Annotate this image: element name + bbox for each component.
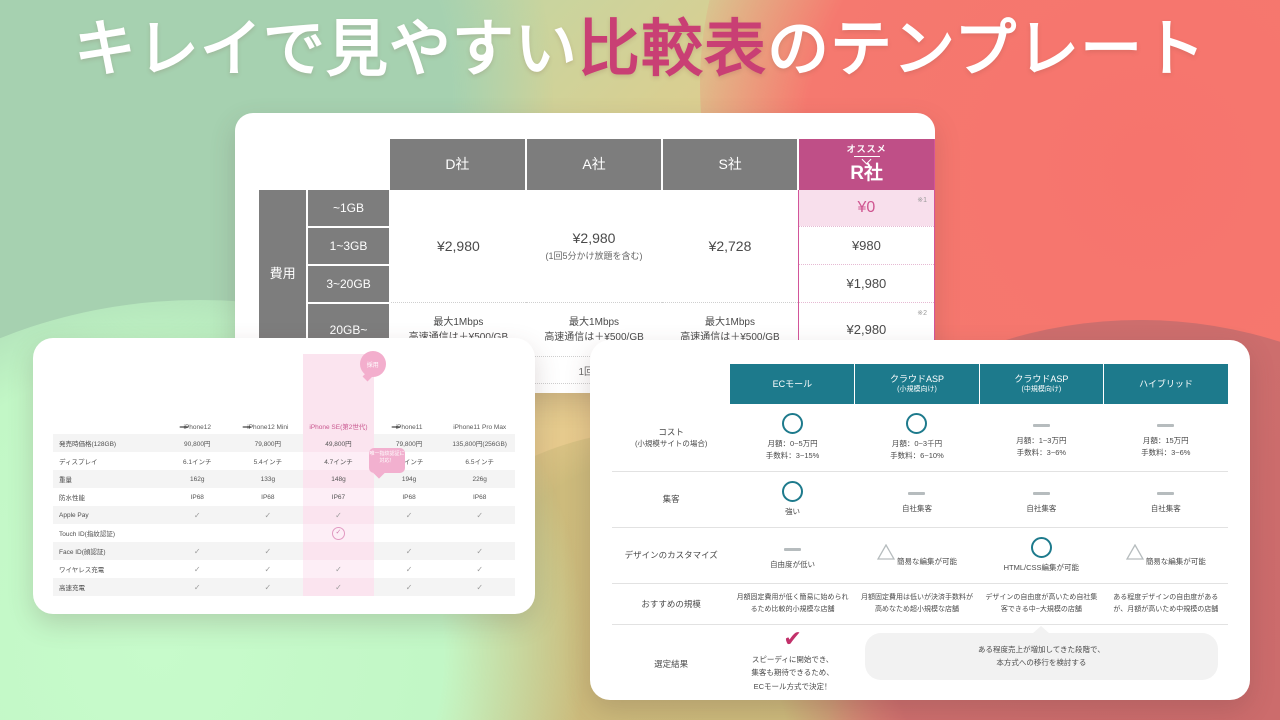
tier-label-0: ~1GB <box>307 190 390 227</box>
phone-row-label-0: 発売時価格(128GB) <box>53 434 162 452</box>
ec-verdict-l1: スピーディに開始でき、 <box>752 655 833 664</box>
ec-cell-2-0-text: 自由度が低い <box>770 560 815 569</box>
phone-cell-7-4: ✓ <box>444 560 515 578</box>
circle-check-icon: ✓ <box>332 527 345 540</box>
phone-row-label-4: Apple Pay <box>53 506 162 524</box>
ec-scale-3: ある程度デザインの自由度があるが、月額が高いため中規模の店舗 <box>1104 584 1228 625</box>
phone-cell-5-4 <box>444 524 515 542</box>
speed-s-line1: 最大1Mbps <box>705 317 755 328</box>
phone-row-label-6: Face ID(顔認証) <box>53 542 162 560</box>
table-row: デザインのカスタマイズ 自由度が低い 簡易な編集が可能 HTML/CSS編集が可… <box>612 528 1228 584</box>
ec-column-header-2: クラウドASP (中規模向け) <box>979 364 1103 404</box>
page-title: キレイで見やすい比較表のテンプレート <box>0 18 1280 80</box>
ec-column-header-3: ハイブリッド <box>1104 364 1228 404</box>
table-row: コスト (小規模サイトの場合) 月額：0~5万円手数料：3~15% 月額：0~3… <box>612 404 1228 472</box>
table-row: おすすめの規模 月額固定費用が低く簡易に始められるため比較的小規模な店舗 月額固… <box>612 584 1228 625</box>
price-r-0: ¥0 ※1 <box>798 190 934 227</box>
ec-cell-2-3: 簡易な編集が可能 <box>1104 528 1228 584</box>
ec-row-label-0-sub: (小規模サイトの場合) <box>612 438 730 449</box>
table-row: 高速充電 ✓ ✓ ✓ ✓ ✓ <box>53 578 515 596</box>
price-r-1: ¥980 <box>798 227 934 265</box>
circle-mark-icon <box>782 481 803 502</box>
phone-cell-1-4: 6.5インチ <box>444 452 515 470</box>
phone-row-label-3: 防水性能 <box>53 488 162 506</box>
phone-cell-2-2: 148g <box>303 470 374 488</box>
phone-row-label-8: 高速充電 <box>53 578 162 596</box>
dash-mark-icon <box>784 548 801 551</box>
triangle-mark-icon <box>1126 544 1144 560</box>
ec-row-label-0-main: コスト <box>658 427 684 437</box>
ec-cell-2-1: 簡易な編集が可能 <box>855 528 979 584</box>
table-row: 発売時価格(128GB) 90,800円 79,800円 49,800円 79,… <box>53 434 515 452</box>
phone-cell-3-4: IP68 <box>444 488 515 506</box>
recommended-badge-label: オススメ <box>847 144 887 154</box>
table-row: 費用 ~1GB ¥2,980 ¥2,980 (1回5分かけ放題を含む) ¥2,7… <box>259 190 935 227</box>
phone-cell-1-0: 6.1インチ <box>162 452 233 470</box>
dash-mark-icon <box>1157 424 1174 427</box>
phone-cell-8-3: ✓ <box>374 578 445 596</box>
ec-cell-0-3: 月額：15万円手数料：3~6% <box>1104 404 1228 472</box>
card-phone-comparison-table: iPhone12 iPhone12 Mini 採用 iPhone SE(第2世代… <box>33 338 535 614</box>
dash-mark-icon <box>1033 424 1050 427</box>
phone-row-label-5: Touch ID(指紋認証) <box>53 524 162 542</box>
phone-cell-6-1: ✓ <box>233 542 304 560</box>
tier-label-2: 3~20GB <box>307 265 390 303</box>
phone-cell-0-0: 90,800円 <box>162 434 233 452</box>
phone-header-2-selected: 採用 iPhone SE(第2世代) <box>303 354 374 434</box>
circle-mark-icon <box>1031 537 1052 558</box>
ec-column-sub-1: (小規模向け) <box>855 385 978 394</box>
ec-cell-2-2: HTML/CSS編集が可能 <box>979 528 1103 584</box>
phone-cell-8-2: ✓ <box>303 578 374 596</box>
table-row: 選定結果 ✔ スピーディに開始でき、 集客も期待できるため、 ECモール方式で決… <box>612 624 1228 700</box>
ec-cell-0-0-l1: 月額：0~5万円 <box>767 439 817 448</box>
phone-cell-7-1: ✓ <box>233 560 304 578</box>
ec-cell-1-3-text: 自社集客 <box>1151 504 1181 513</box>
phone-row-label-1: ディスプレイ <box>53 452 162 470</box>
corner-cell <box>259 139 390 190</box>
ec-cell-1-2: 自社集客 <box>979 472 1103 528</box>
ec-cell-1-0-text: 強い <box>785 507 800 516</box>
phone-cell-3-2: IP67 <box>303 488 374 506</box>
ec-cell-0-3-l2: 手数料：3~6% <box>1141 448 1190 457</box>
ec-row-label-verdict: 選定結果 <box>612 624 730 700</box>
price-r-1-value: ¥980 <box>852 238 881 253</box>
ec-cell-1-1: 自社集客 <box>855 472 979 528</box>
ec-column-header-1: クラウドASP (小規模向け) <box>855 364 979 404</box>
phone-cell-5-3 <box>374 524 445 542</box>
ec-verdict-callout: ある程度売上が増加してきた段階で、 本方式への移行を検討する <box>865 633 1218 680</box>
phone-name-1: iPhone12 Mini <box>247 424 288 431</box>
phone-cell-4-2: ✓ <box>303 506 374 524</box>
price-d: ¥2,980 <box>390 190 526 303</box>
ec-cell-2-1-text: 簡易な編集が可能 <box>897 557 957 566</box>
circle-mark-icon <box>906 413 927 434</box>
ec-cell-0-2-l2: 手数料：3~6% <box>1017 448 1066 457</box>
phone-cell-8-0: ✓ <box>162 578 233 596</box>
phone-row-label-7: ワイヤレス充電 <box>53 560 162 578</box>
table-row: Touch ID(指紋認証) ✓ <box>53 524 515 542</box>
ec-scale-0: 月額固定費用が低く簡易に始められるため比較的小規模な店舗 <box>730 584 854 625</box>
phone-header-row: iPhone12 iPhone12 Mini 採用 iPhone SE(第2世代… <box>53 354 515 434</box>
column-header-s: S社 <box>662 139 798 190</box>
triangle-mark-icon <box>877 544 895 560</box>
ec-cell-2-2-text: HTML/CSS編集が可能 <box>1004 563 1079 572</box>
ec-header-row: ECモール クラウドASP (小規模向け) クラウドASP (中規模向け) ハイ… <box>612 364 1228 404</box>
ec-verdict-l2: 集客も期待できるため、 <box>751 668 833 677</box>
phone-row-label-2: 重量 <box>53 470 162 488</box>
ec-callout-l1: ある程度売上が増加してきた段階で、 <box>978 645 1105 654</box>
price-r-2-value: ¥1,980 <box>847 276 887 291</box>
phone-header-4: iPhone11 Pro Max <box>444 354 515 434</box>
notch-icon <box>391 426 400 428</box>
notch-icon <box>243 426 252 428</box>
phone-cell-6-2 <box>303 542 374 560</box>
column-header-recommended: オススメ R社 <box>798 139 934 190</box>
phone-cell-3-3: IP68 <box>374 488 445 506</box>
ec-cell-0-2: 月額：1~3万円手数料：3~6% <box>979 404 1103 472</box>
ec-cell-0-1-l1: 月額：0~3千円 <box>892 439 942 448</box>
ec-column-title-2: クラウドASP <box>1014 374 1068 384</box>
title-highlight: 比較表 <box>578 12 767 85</box>
ec-cell-1-3: 自社集客 <box>1104 472 1228 528</box>
table-row: 集客 強い 自社集客 自社集客 自社集客 <box>612 472 1228 528</box>
table-row: 重量 162g 133g 148g 194g 226g <box>53 470 515 488</box>
price-a: ¥2,980 (1回5分かけ放題を含む) <box>526 190 662 303</box>
phone-cell-2-4: 226g <box>444 470 515 488</box>
phone-cell-4-3: ✓ <box>374 506 445 524</box>
notch-icon <box>179 426 188 428</box>
recommended-company-name: R社 <box>850 163 883 184</box>
phone-cell-5-2: ✓ <box>303 524 374 542</box>
table-row: Face ID(顔認証) ✓ ✓ ✓ ✓ <box>53 542 515 560</box>
phone-cell-1-2: 4.7インチ <box>303 452 374 470</box>
ec-cell-0-3-l1: 月額：15万円 <box>1143 436 1189 445</box>
phone-cell-1-1: 5.4インチ <box>233 452 304 470</box>
ec-cell-0-0: 月額：0~5万円手数料：3~15% <box>730 404 854 472</box>
phone-cell-0-1: 79,800円 <box>233 434 304 452</box>
price-a-value: ¥2,980 <box>573 230 616 246</box>
price-r-0-value: ¥0 <box>858 199 876 216</box>
price-r-0-note: ※1 <box>917 196 927 204</box>
ec-scale-2: デザインの自由度が高いため自社集客できる中~大規模の店舗 <box>979 584 1103 625</box>
dash-mark-icon <box>1033 492 1050 495</box>
phone-cell-5-1 <box>233 524 304 542</box>
row-group-label-cost: 費用 <box>259 190 307 357</box>
ec-column-header-0: ECモール <box>730 364 854 404</box>
table-row: ワイヤレス充電 ✓ ✓ ✓ ✓ ✓ <box>53 560 515 578</box>
ec-column-title-1: クラウドASP <box>890 374 944 384</box>
phone-header-1: iPhone12 Mini <box>233 354 304 434</box>
ec-row-label-2: デザインのカスタマイズ <box>612 528 730 584</box>
price-a-note: (1回5分かけ放題を含む) <box>526 249 662 262</box>
title-part-1: キレイで見やすい <box>74 12 578 85</box>
price-s: ¥2,728 <box>662 190 798 303</box>
ec-row-label-1: 集客 <box>612 472 730 528</box>
speed-d-line1: 最大1Mbps <box>433 317 483 328</box>
ec-cell-0-0-l2: 手数料：3~15% <box>766 451 820 460</box>
phone-cell-2-1: 133g <box>233 470 304 488</box>
circle-mark-icon <box>782 413 803 434</box>
price-r-3-value: ¥2,980 <box>847 322 887 337</box>
table-row: 防水性能 IP68 IP68 IP67 IP68 IP68 <box>53 488 515 506</box>
price-r-3-note: ※2 <box>917 309 927 317</box>
phone-cell-4-1: ✓ <box>233 506 304 524</box>
table-row: ディスプレイ 6.1インチ 5.4インチ 4.7インチ 6.1インチ 6.5イン… <box>53 452 515 470</box>
price-r-2: ¥1,980 <box>798 265 934 303</box>
table-row: Apple Pay ✓ ✓ ✓ ✓ ✓ <box>53 506 515 524</box>
ec-cell-2-3-text: 簡易な編集が可能 <box>1146 557 1206 566</box>
phone-cell-2-0: 162g <box>162 470 233 488</box>
phone-comparison-table: iPhone12 iPhone12 Mini 採用 iPhone SE(第2世代… <box>53 354 515 596</box>
ec-scale-1: 月額固定費用は低いが決済手数料が高めなため超小規模な店舗 <box>855 584 979 625</box>
ec-cell-0-2-l1: 月額：1~3万円 <box>1016 436 1066 445</box>
speed-a-line1: 最大1Mbps <box>569 317 619 328</box>
phone-cell-3-1: IP68 <box>233 488 304 506</box>
ec-column-title-0: ECモール <box>773 379 813 389</box>
ec-cell-1-0: 強い <box>730 472 854 528</box>
adopted-badge: 採用 <box>360 351 386 377</box>
phone-header-corner <box>53 354 162 434</box>
ec-callout-l2: 本方式への移行を検討する <box>996 658 1086 667</box>
column-header-a: A社 <box>526 139 662 190</box>
ec-row-label-scale: おすすめの規模 <box>612 584 730 625</box>
phone-cell-7-0: ✓ <box>162 560 233 578</box>
ec-cell-0-1: 月額：0~3千円手数料：6~10% <box>855 404 979 472</box>
phone-cell-6-4: ✓ <box>444 542 515 560</box>
ec-header-corner <box>612 364 730 404</box>
ec-verdict-text: ✔ スピーディに開始でき、 集客も期待できるため、 ECモール方式で決定！ <box>730 624 854 700</box>
ec-row-label-0: コスト (小規模サイトの場合) <box>612 404 730 472</box>
column-header-d: D社 <box>390 139 526 190</box>
phone-cell-5-0 <box>162 524 233 542</box>
phone-cell-0-2: 49,800円 <box>303 434 374 452</box>
phone-cell-6-3: ✓ <box>374 542 445 560</box>
table-header-row: D社 A社 S社 オススメ R社 <box>259 139 935 190</box>
phone-name-4: iPhone11 Pro Max <box>453 424 506 431</box>
dash-mark-icon <box>1157 492 1174 495</box>
dash-mark-icon <box>908 492 925 495</box>
ec-cell-1-1-text: 自社集客 <box>902 504 932 513</box>
phone-cell-0-4: 135,800円(256GB) <box>444 434 515 452</box>
ec-column-title-3: ハイブリッド <box>1139 379 1193 389</box>
phone-cell-7-2: ✓ <box>303 560 374 578</box>
touch-id-note-bubble: 唯一指紋認証に対応！ <box>369 448 405 473</box>
phone-header-0: iPhone12 <box>162 354 233 434</box>
phone-cell-8-4: ✓ <box>444 578 515 596</box>
phone-cell-4-4: ✓ <box>444 506 515 524</box>
phone-cell-4-0: ✓ <box>162 506 233 524</box>
phone-cell-7-3: ✓ <box>374 560 445 578</box>
ec-verdict-callout-cell: ある程度売上が増加してきた段階で、 本方式への移行を検討する <box>855 624 1228 700</box>
ec-verdict-l3: ECモール方式で決定！ <box>754 682 832 691</box>
check-mark-icon: ✔ <box>734 629 850 651</box>
phone-cell-3-0: IP68 <box>162 488 233 506</box>
recommended-arrow-icon <box>854 156 880 163</box>
phone-name-2: iPhone SE(第2世代) <box>309 424 367 431</box>
phone-cell-6-0: ✓ <box>162 542 233 560</box>
card-ec-comparison-table: ECモール クラウドASP (小規模向け) クラウドASP (中規模向け) ハイ… <box>590 340 1250 700</box>
ec-column-sub-2: (中規模向け) <box>980 385 1103 394</box>
title-part-2: のテンプレート <box>767 12 1206 85</box>
ec-cell-2-0: 自由度が低い <box>730 528 854 584</box>
ec-cell-0-1-l2: 手数料：6~10% <box>890 451 944 460</box>
ec-comparison-table: ECモール クラウドASP (小規模向け) クラウドASP (中規模向け) ハイ… <box>612 364 1228 700</box>
phone-cell-8-1: ✓ <box>233 578 304 596</box>
ec-cell-1-2-text: 自社集客 <box>1026 504 1056 513</box>
tier-label-1: 1~3GB <box>307 227 390 265</box>
